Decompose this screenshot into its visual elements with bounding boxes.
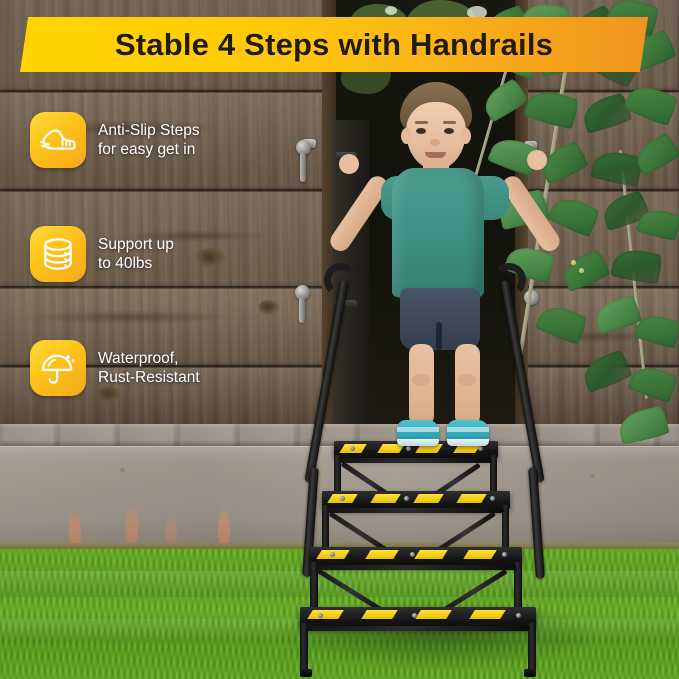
vine-leaf bbox=[579, 349, 632, 393]
vine-leaf bbox=[559, 249, 611, 292]
step-crossbar-3 bbox=[316, 565, 516, 570]
feature-line-1: Anti-Slip Steps bbox=[98, 122, 200, 139]
child-eye-right bbox=[444, 128, 454, 134]
anti-slip-stripe bbox=[370, 494, 401, 503]
child-shoe-left bbox=[397, 420, 439, 446]
shoe-icon bbox=[40, 125, 76, 155]
feature-line-2: to 40lbs bbox=[98, 254, 174, 273]
shoe-sole bbox=[397, 439, 439, 446]
frame-bolt bbox=[412, 613, 417, 618]
vine-leaf bbox=[590, 147, 644, 189]
product-infographic: Stable 4 Steps with Handrails Anti-Slip … bbox=[0, 0, 679, 679]
vine-leaf bbox=[592, 294, 642, 334]
vine-leaf bbox=[623, 80, 679, 128]
feature-item-support: Support up to 40lbs bbox=[30, 226, 260, 282]
umbrella-icon bbox=[40, 351, 76, 385]
vine-leaf bbox=[580, 92, 632, 134]
concrete-speck bbox=[590, 474, 595, 478]
child-ear-right bbox=[460, 128, 471, 144]
frame-bolt bbox=[502, 552, 507, 557]
step-crossbar-1 bbox=[340, 458, 492, 463]
wood-knot bbox=[258, 300, 280, 315]
handrail-left-bend bbox=[324, 263, 358, 297]
vine-leaf bbox=[610, 245, 663, 285]
database-icon bbox=[42, 237, 74, 271]
door-handle-bar bbox=[300, 152, 306, 182]
step-crossbar-2 bbox=[328, 508, 504, 513]
frame-bolt bbox=[516, 613, 521, 618]
feature-line-2: Rust-Resistant bbox=[98, 368, 200, 387]
title-banner: Stable 4 Steps with Handrails bbox=[20, 17, 648, 72]
doorway-sky-gap bbox=[385, 6, 397, 15]
handrail-right-lower bbox=[528, 467, 545, 579]
stair-foot bbox=[524, 669, 536, 677]
anti-slip-stripe bbox=[463, 550, 497, 559]
frame-bolt bbox=[410, 552, 415, 557]
child-eyebrow-left bbox=[415, 121, 428, 124]
child-tshirt bbox=[392, 168, 484, 298]
feature-line-1: Support up bbox=[98, 236, 174, 253]
step-tread-2 bbox=[322, 491, 510, 509]
feature-line-1: Waterproof, bbox=[98, 350, 178, 367]
feature-text-anti-slip: Anti-Slip Steps for easy get in bbox=[98, 121, 200, 159]
frame-bolt bbox=[318, 613, 323, 618]
database-icon-badge bbox=[30, 226, 86, 282]
frame-bolt bbox=[340, 496, 345, 501]
anti-slip-stripe bbox=[456, 494, 487, 503]
step-tread-4 bbox=[300, 607, 536, 628]
feature-line-2: for easy get in bbox=[98, 140, 200, 159]
anti-slip-stripe bbox=[307, 610, 344, 619]
anti-slip-stripe bbox=[415, 610, 452, 619]
anti-slip-stripe bbox=[361, 610, 398, 619]
shoe-strap bbox=[447, 427, 489, 432]
anti-slip-stripe bbox=[469, 610, 506, 619]
shoe-strap bbox=[397, 427, 439, 432]
shoe-sole bbox=[447, 439, 489, 446]
child-nose bbox=[430, 139, 440, 146]
child-hand-left bbox=[339, 154, 359, 174]
child-knee-right bbox=[458, 374, 476, 386]
child-hand-right bbox=[527, 150, 547, 170]
child-model bbox=[355, 82, 535, 452]
frame-bolt bbox=[490, 496, 495, 501]
vine-berry bbox=[579, 268, 584, 273]
feature-text-support: Support up to 40lbs bbox=[98, 235, 174, 273]
umbrella-icon-badge bbox=[30, 340, 86, 396]
child-eyebrow-right bbox=[443, 121, 456, 124]
feature-item-waterproof: Waterproof, Rust-Resistant bbox=[30, 340, 260, 396]
stair-foot bbox=[300, 669, 312, 677]
child-ear-left bbox=[401, 128, 412, 144]
vine-berry bbox=[571, 260, 576, 265]
feature-text-waterproof: Waterproof, Rust-Resistant bbox=[98, 349, 200, 387]
anti-slip-stripe bbox=[414, 550, 448, 559]
frame-bolt bbox=[330, 552, 335, 557]
feature-item-anti-slip: Anti-Slip Steps for easy get in bbox=[30, 112, 260, 168]
child-eye-left bbox=[416, 128, 426, 134]
child-face bbox=[406, 102, 466, 170]
child-knee-left bbox=[412, 374, 430, 386]
anti-slip-stripe bbox=[413, 494, 444, 503]
concrete-speck bbox=[120, 468, 125, 472]
shoe-icon-badge bbox=[30, 112, 86, 168]
vine-leaf bbox=[627, 361, 679, 404]
child-mouth bbox=[425, 152, 446, 158]
shorts-center-seam bbox=[436, 322, 442, 350]
anti-slip-stripe bbox=[365, 550, 399, 559]
vine-leaf bbox=[616, 405, 669, 444]
child-shoe-right bbox=[447, 420, 489, 446]
frame-bolt bbox=[404, 496, 409, 501]
feature-list: Anti-Slip Steps for easy get in Support … bbox=[30, 112, 260, 454]
step-crossbar-4 bbox=[306, 626, 530, 631]
page-title: Stable 4 Steps with Handrails bbox=[115, 27, 553, 63]
step-tread-3 bbox=[310, 547, 522, 566]
